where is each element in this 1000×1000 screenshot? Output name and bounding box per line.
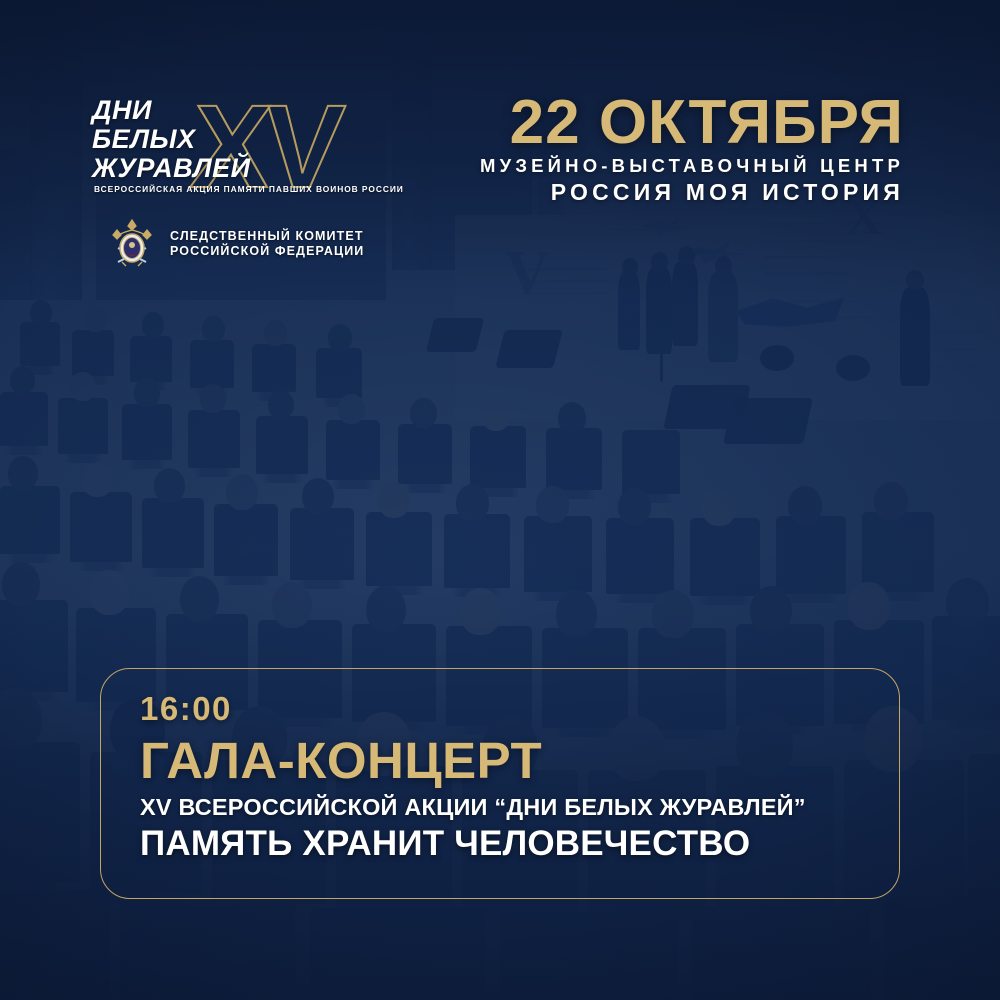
program-details: 16:00 ГАЛА-КОНЦЕРТ XV ВСЕРОССИЙСКОЙ АКЦИ… [140, 690, 900, 865]
event-date-block: 22 ОКТЯБРЯ МУЗЕЙНО-ВЫСТАВОЧНЫЙ ЦЕНТР РОС… [480, 92, 904, 206]
poster-content: XV ДНИ БЕЛЫХ ЖУРАВЛЕЙ ВСЕРОССИЙСКАЯ АКЦИ… [0, 0, 1000, 1000]
program-slogan: ПАМЯТЬ ХРАНИТ ЧЕЛОВЕЧЕСТВО [140, 823, 900, 865]
organization-line-1: СЛЕДСТВЕННЫЙ КОМИТЕТ [170, 229, 364, 244]
venue-line-1: МУЗЕЙНО-ВЫСТАВОЧНЫЙ ЦЕНТР [480, 154, 904, 178]
program-time: 16:00 [140, 690, 900, 728]
event-date: 22 ОКТЯБРЯ [480, 92, 904, 154]
venue-line-2: РОССИЯ МОЯ ИСТОРИЯ [480, 178, 904, 206]
campaign-logo: XV ДНИ БЕЛЫХ ЖУРАВЛЕЙ ВСЕРОССИЙСКАЯ АКЦИ… [92, 96, 452, 201]
program-title: ГАЛА-КОНЦЕРТ [140, 732, 900, 790]
campaign-tagline: ВСЕРОССИЙСКАЯ АКЦИЯ ПАМЯТИ ПАВШИХ ВОИНОВ… [94, 184, 450, 194]
program-subtitle: XV ВСЕРОССИЙСКОЙ АКЦИИ “ДНИ БЕЛЫХ ЖУРАВЛ… [140, 792, 900, 822]
organization-block: СЛЕДСТВЕННЫЙ КОМИТЕТ РОССИЙСКОЙ ФЕДЕРАЦИ… [108, 218, 364, 270]
logo-line-2: БЕЛЫХ [92, 125, 452, 154]
investigative-committee-emblem-icon [108, 218, 156, 270]
campaign-logo-lines: ДНИ БЕЛЫХ ЖУРАВЛЕЙ [92, 96, 452, 183]
organization-name: СЛЕДСТВЕННЫЙ КОМИТЕТ РОССИЙСКОЙ ФЕДЕРАЦИ… [170, 229, 364, 259]
logo-line-3: ЖУРАВЛЕЙ [92, 154, 452, 183]
logo-line-1: ДНИ [92, 96, 452, 125]
organization-line-2: РОССИЙСКОЙ ФЕДЕРАЦИИ [170, 244, 364, 259]
event-poster: V X [0, 0, 1000, 1000]
